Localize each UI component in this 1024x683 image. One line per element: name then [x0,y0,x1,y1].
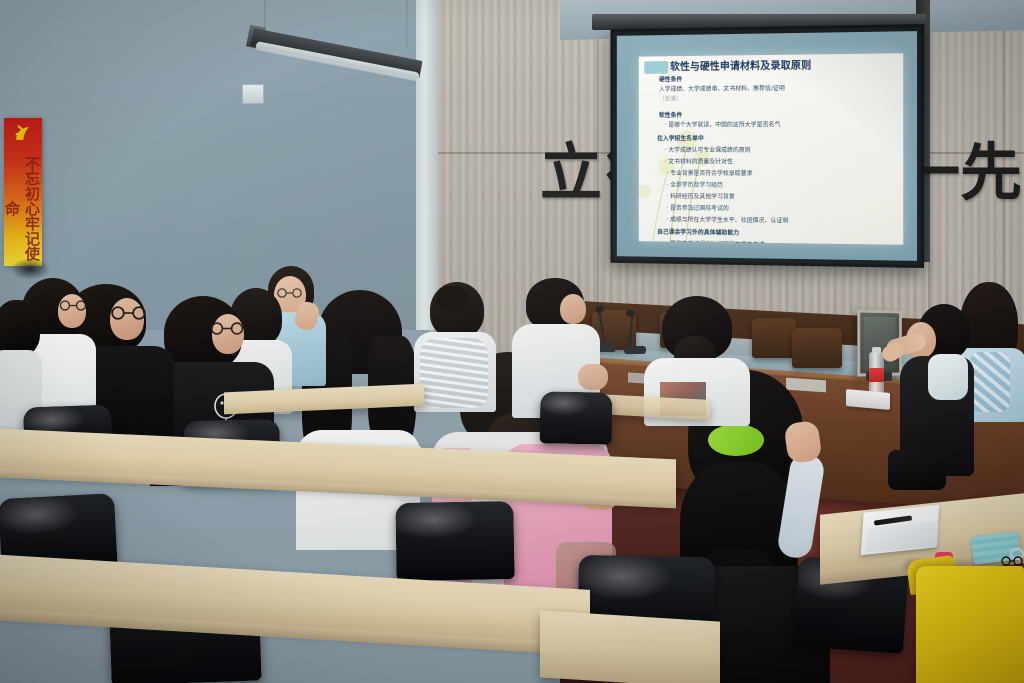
slide-line: 大学成绩认可专业课成绩的原则 [665,145,751,154]
banner-text: 不忘初心牢记使命 [4,148,42,266]
slide-line: 软性条件 [659,110,682,119]
light-suspension-rod [406,0,408,48]
projection-screen: 软性与硬性申请材料及录取原则 硬性条件 入学成绩、大学成绩单、文书材料、推荐信/… [592,14,926,262]
eyeglasses-icon [1000,556,1024,566]
student-desk-front-right [540,610,720,683]
slide-line: 入学成绩、大学成绩单、文书材料、推荐信/证明 [659,83,785,93]
screen-surface: 软性与硬性申请材料及录取原则 硬性条件 入学成绩、大学成绩单、文书材料、推荐信/… [617,31,917,261]
presentation-slide: 软性与硬性申请材料及录取原则 硬性条件 入学成绩、大学成绩单、文书材料、推荐信/… [639,53,903,244]
conference-chair [792,328,842,368]
bottle-cap [872,347,881,353]
slide-line: 是哪个大学就读，中国的这所大学是否名气 [665,120,781,129]
chair [395,501,514,581]
classroom-photo-scene: 立 德 一 先 不忘初心牢记使命 [0,0,1024,683]
raised-hand [783,420,822,464]
bottle-label [869,368,884,382]
person-woman-black-dress [884,300,988,490]
slide-line: 硬性条件 [659,74,682,83]
conference-chair [752,318,796,358]
light-suspension-rod [264,0,266,28]
slide-line: 全部学历及学习经历 [666,180,723,189]
water-bottle [869,352,884,396]
hammer-sickle-icon [13,124,32,143]
slide-line: 专业背景是否符合学校录取要求 [666,168,752,177]
slide-line: 成绩与所在大学学生水平、社团情况、认证明 [666,215,788,225]
slide-title: 软性与硬性申请材料及录取原则 [670,57,811,73]
slide-line: 文书材料的质量及针对性 [665,157,733,166]
person-woman-striped-top [414,282,498,412]
chair [540,391,613,444]
eyeglasses-icon [56,300,90,311]
slide-line: 科研经历及其他学习背景 [666,191,734,200]
slogan-char-8: 先 [960,142,1022,204]
banner-shadow [10,258,50,280]
party-banner: 不忘初心牢记使命 [4,118,42,266]
wall-plate [242,84,264,104]
slide-line: 在入学招生名单中 [657,133,704,142]
slide-line: 自己课余学习外的具体辅助能力 [657,227,739,237]
screen-frame: 软性与硬性申请材料及录取原则 硬性条件 入学成绩、大学成绩单、文书材料、推荐信/… [610,24,924,268]
hair-bun [436,286,468,312]
slide-line: （如果） [659,94,682,103]
eyeglasses-icon [106,306,150,320]
eyeglasses-icon [206,322,248,335]
neon-scrunchie [708,424,764,456]
ceiling-light-fixture [252,14,432,80]
slide-line: 是否参加过国际考试的 [666,203,728,212]
slide-logo-icon [644,61,668,74]
yellow-bag [916,566,1024,683]
slide-line: 是否在学校规定时间范围内提交申请 [666,239,764,245]
